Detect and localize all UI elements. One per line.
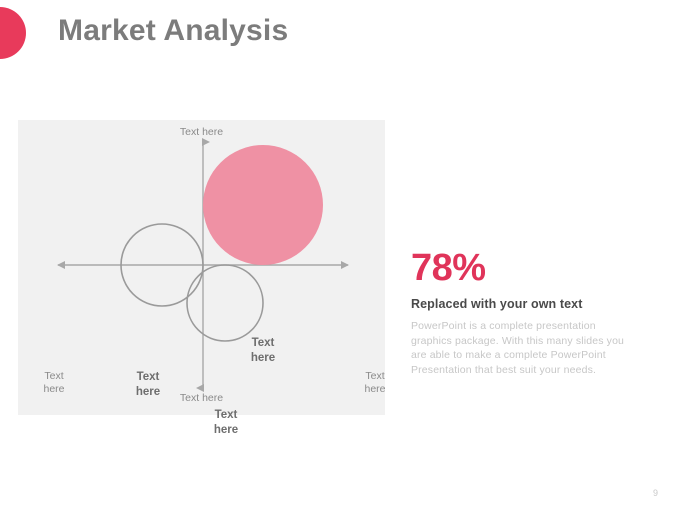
bubble-label-lower-center: Text here bbox=[188, 408, 264, 438]
bubble-label-left: Text here bbox=[110, 370, 186, 400]
bubble-filled-upper-right bbox=[203, 145, 323, 265]
axis-label-top: Text here bbox=[18, 126, 385, 139]
bubble-label-upper-right: Text here bbox=[220, 336, 306, 366]
axis-label-left: Text here bbox=[34, 370, 74, 396]
stat-value: 78% bbox=[411, 248, 646, 288]
page-title: Market Analysis bbox=[58, 14, 288, 48]
stat-body-text: PowerPoint is a complete presentation gr… bbox=[411, 319, 627, 377]
axis-label-right: Text here bbox=[355, 370, 395, 396]
stat-block: 78% Replaced with your own text PowerPoi… bbox=[411, 248, 646, 377]
chart-panel: Text here Text here Text here Text here … bbox=[18, 120, 385, 415]
bubble-outline-lower-center bbox=[187, 265, 263, 341]
page-number: 9 bbox=[653, 488, 658, 498]
slide: Market Analysis bbox=[0, 0, 680, 510]
quadrant-bubble-chart: Text here Text here Text here Text here … bbox=[18, 120, 385, 415]
stat-heading: Replaced with your own text bbox=[411, 297, 646, 311]
title-accent-shape bbox=[0, 7, 26, 59]
